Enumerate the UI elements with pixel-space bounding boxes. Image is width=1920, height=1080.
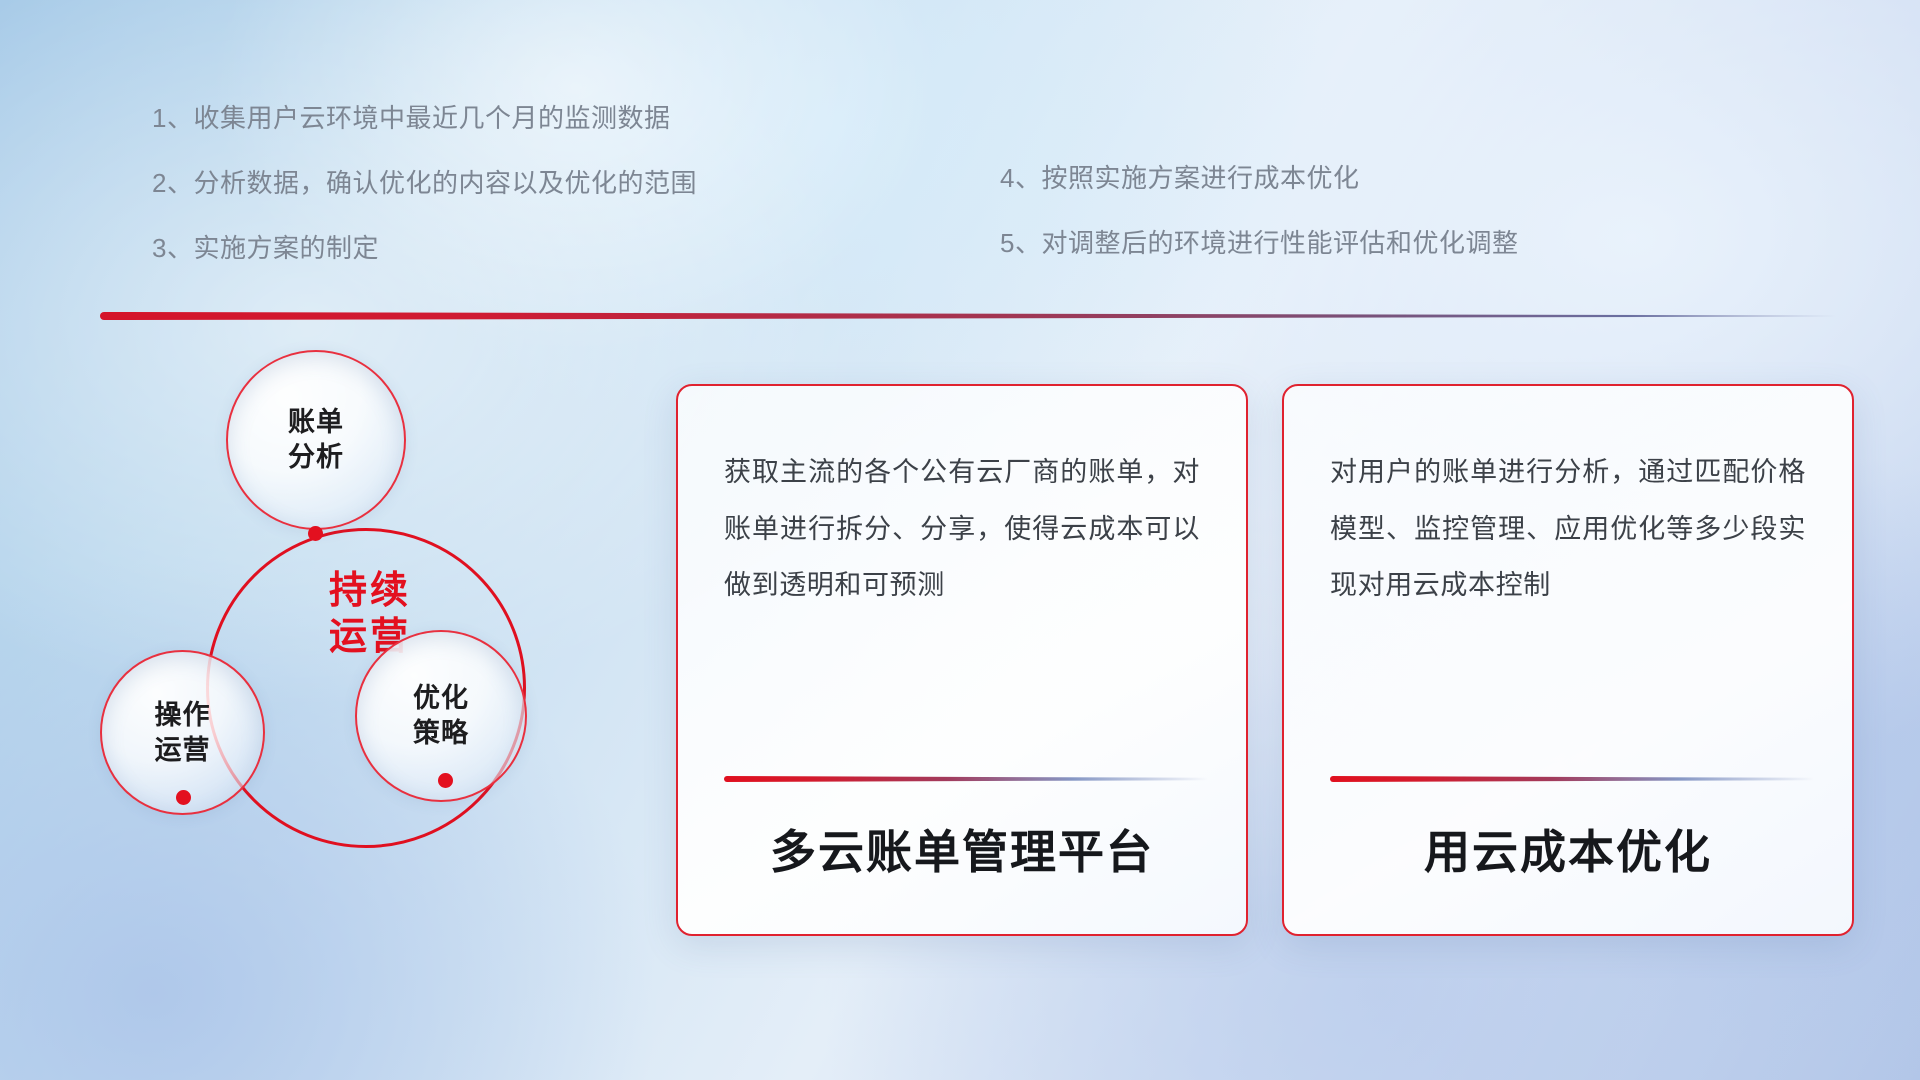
bullet-item-3: 3、实施方案的制定 [152, 228, 697, 265]
bubble-left-line-1: 操作 [155, 698, 211, 733]
bubble-left-line-2: 运营 [155, 733, 211, 768]
slide-stage: 1、收集用户云环境中最近几个月的监测数据 2、分析数据，确认优化的内容以及优化的… [0, 0, 1920, 1080]
card-cloud-cost-optimization[interactable]: 对用户的账单进行分析，通过匹配价格模型、监控管理、应用优化等多少段实现对用云成本… [1282, 384, 1854, 936]
bubble-operation-label: 操作 运营 [155, 698, 211, 767]
card-1-body: 获取主流的各个公有云厂商的账单，对账单进行拆分、分享，使得云成本可以做到透明和可… [724, 444, 1200, 614]
bullet-item-2: 2、分析数据，确认优化的内容以及优化的范围 [152, 163, 697, 200]
bullet-item-4: 4、按照实施方案进行成本优化 [1000, 158, 1518, 195]
card-1-divider [724, 776, 1208, 782]
continuous-operation-diagram: 持续 运营 账单 分析 操作 运营 优化 策略 [100, 350, 570, 950]
card-2-body: 对用户的账单进行分析，通过匹配价格模型、监控管理、应用优化等多少段实现对用云成本… [1330, 444, 1806, 614]
center-label-line-1: 持续 [260, 568, 480, 614]
bubble-top-line-1: 账单 [288, 405, 344, 440]
card-multicloud-billing-platform[interactable]: 获取主流的各个公有云厂商的账单，对账单进行拆分、分享，使得云成本可以做到透明和可… [676, 384, 1248, 936]
bubble-top-line-2: 分析 [288, 440, 344, 475]
bubble-optimization-strategy-label: 优化 策略 [413, 681, 469, 750]
bubble-right-line-2: 策略 [413, 716, 469, 751]
node-dot-left [176, 790, 191, 805]
red-divider-line [100, 312, 1836, 320]
bullet-item-5: 5、对调整后的环境进行性能评估和优化调整 [1000, 223, 1518, 260]
bubble-bill-analysis[interactable]: 账单 分析 [226, 350, 406, 530]
bullet-list-right: 4、按照实施方案进行成本优化 5、对调整后的环境进行性能评估和优化调整 [1000, 158, 1518, 288]
bullet-list-left: 1、收集用户云环境中最近几个月的监测数据 2、分析数据，确认优化的内容以及优化的… [152, 98, 697, 293]
card-2-divider [1330, 776, 1814, 782]
node-dot-right [438, 773, 453, 788]
bubble-bill-analysis-label: 账单 分析 [288, 405, 344, 474]
bubble-right-line-1: 优化 [413, 681, 469, 716]
node-dot-top [308, 526, 323, 541]
card-2-title: 用云成本优化 [1284, 816, 1852, 882]
card-1-title: 多云账单管理平台 [678, 816, 1246, 882]
bullet-item-1: 1、收集用户云环境中最近几个月的监测数据 [152, 98, 697, 135]
